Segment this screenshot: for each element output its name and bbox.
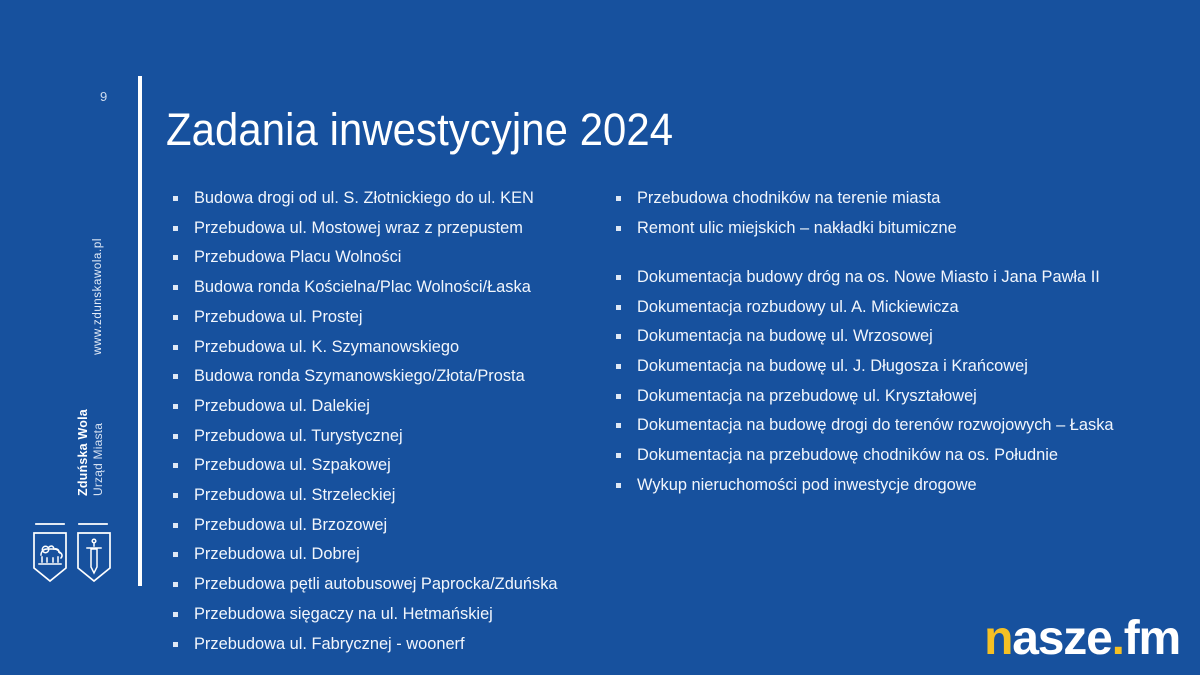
bullet-item: Przebudowa ul. Turystycznej [172, 424, 592, 448]
bullet-item: Przebudowa Placu Wolności [172, 245, 592, 269]
bullet-item: Przebudowa chodników na terenie miasta [615, 186, 1155, 210]
bullet-item: Budowa drogi od ul. S. Złotnickiego do u… [172, 186, 592, 210]
bullet-column-left: Budowa drogi od ul. S. Złotnickiego do u… [172, 186, 592, 661]
bullet-item: Dokumentacja na przebudowę ul. Kryształo… [615, 384, 1155, 408]
bullet-item: Przebudowa ul. Dobrej [172, 542, 592, 566]
bullet-item: Przebudowa ul. K. Szymanowskiego [172, 335, 592, 359]
coat-of-arms-svg [24, 519, 120, 591]
logo-text-asze: asze [1012, 612, 1111, 665]
bullet-item: Dokumentacja na budowę ul. Wrzosowej [615, 324, 1155, 348]
bullet-item: Budowa ronda Kościelna/Plac Wolności/Łas… [172, 275, 592, 299]
bullet-item: Przebudowa ul. Strzeleckiej [172, 483, 592, 507]
sidebar-brand: Zduńska Wola Urząd Miasta [76, 396, 105, 496]
logo-text-fm: fm [1124, 612, 1180, 665]
sidebar-website: www.zdunskawola.pl [86, 238, 110, 368]
page-number: 9 [100, 90, 108, 103]
sidebar-brand-city: Zduńska Wola [76, 396, 91, 496]
lion-emblem [41, 546, 62, 562]
bullet-item: Przebudowa ul. Brzozowej [172, 513, 592, 537]
sidebar-brand-office: Urząd Miasta [91, 396, 105, 496]
bullet-item: Budowa ronda Szymanowskiego/Złota/Prosta [172, 364, 592, 388]
logo-letter-n: n [984, 612, 1012, 665]
bullet-item: Dokumentacja na przebudowę chodników na … [615, 443, 1155, 467]
bullet-item: Wykup nieruchomości pod inwestycje drogo… [615, 473, 1155, 497]
bullet-item: Przebudowa ul. Szpakowej [172, 453, 592, 477]
bullet-column-right: Przebudowa chodników na terenie miastaRe… [615, 186, 1155, 502]
bullet-item: Dokumentacja na budowę ul. J. Długosza i… [615, 354, 1155, 378]
bullet-list-left: Budowa drogi od ul. S. Złotnickiego do u… [172, 186, 592, 656]
bullet-item: Przebudowa ul. Mostowej wraz z przepuste… [172, 216, 592, 240]
bullet-item: Przebudowa pętli autobusowej Paprocka/Zd… [172, 572, 592, 596]
bullet-item: Przebudowa sięgaczy na ul. Hetmańskiej [172, 602, 592, 626]
bullet-item: Przebudowa ul. Fabrycznej - woonerf [172, 632, 592, 656]
slide-canvas: 9 www.zdunskawola.pl Zduńska Wola Urząd … [0, 0, 1200, 675]
nasze-fm-logo: nasze.fm [984, 615, 1180, 663]
title-divider-rule [138, 76, 142, 586]
coat-of-arms-icon [24, 519, 120, 591]
bullet-item: Dokumentacja rozbudowy ul. A. Mickiewicz… [615, 295, 1155, 319]
logo-dot: . [1112, 612, 1124, 665]
bullet-item: Dokumentacja na budowę drogi do terenów … [615, 413, 1155, 437]
bullet-list-right: Przebudowa chodników na terenie miastaRe… [615, 186, 1155, 497]
sword-emblem [87, 539, 101, 573]
bullet-item: Przebudowa ul. Dalekiej [172, 394, 592, 418]
bullet-item: Przebudowa ul. Prostej [172, 305, 592, 329]
page-title: Zadania inwestycyjne 2024 [166, 102, 673, 158]
bullet-item: Dokumentacja budowy dróg na os. Nowe Mia… [615, 265, 1155, 289]
sidebar-website-label: www.zdunskawola.pl [92, 238, 104, 355]
bullet-item: Remont ulic miejskich – nakładki bitumic… [615, 216, 1155, 240]
